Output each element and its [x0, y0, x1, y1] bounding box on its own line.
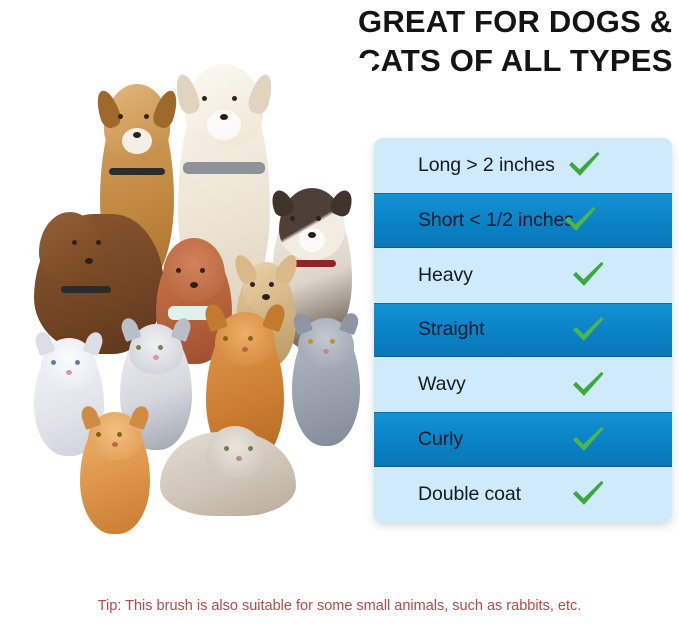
cream-longhair-cat-eye-left [224, 446, 229, 451]
white-labrador-dog-nose [220, 114, 228, 120]
cream-longhair-cat-eye-right [248, 446, 253, 451]
ginger-maine-coon-cat-eye-right [248, 336, 253, 341]
coat-type-row-double-coat[interactable]: Double coat [374, 467, 672, 522]
white-fluffy-cat-eye-right [75, 360, 80, 365]
coat-type-label: Short < 1/2 inches [418, 209, 574, 232]
grey-tabby-cat-nose [153, 355, 159, 360]
white-fluffy-cat-eye-left [51, 360, 56, 365]
grey-tabby-cat-eye-left [136, 345, 141, 350]
brown-retriever-dog-eye-right [96, 240, 101, 245]
coat-type-label: Wavy [418, 373, 466, 396]
orange-tabby-cat-eye-left [96, 432, 101, 437]
brown-retriever-dog-eye-left [72, 240, 77, 245]
green-check-icon [570, 314, 606, 344]
apricot-poodle-dog-eye-left [176, 268, 181, 273]
page-title: GREAT FOR DOGS & CATS OF ALL TYPES [358, 2, 676, 80]
green-check-icon [570, 260, 606, 290]
coat-type-label: Double coat [418, 483, 521, 506]
grey-tabby-cat-eye-right [158, 345, 163, 350]
border-collie-dog-eye-right [316, 216, 321, 221]
border-collie-dog-eye-left [290, 216, 295, 221]
green-check-icon [562, 205, 598, 235]
cream-longhair-cat [160, 432, 296, 516]
british-blue-cat-eye-right [330, 339, 335, 344]
chihuahua-dog-eye-right [269, 282, 274, 287]
orange-tabby-cat-eye-right [117, 432, 122, 437]
coat-type-label: Heavy [418, 264, 473, 287]
brown-retriever-dog-collar [61, 286, 111, 293]
green-check-icon [570, 479, 606, 509]
coat-type-row-heavy[interactable]: Heavy [374, 248, 672, 303]
white-labrador-dog-eye-left [202, 96, 207, 101]
pets-photo [0, 58, 372, 548]
coat-type-row-long[interactable]: Long > 2 inches [374, 138, 672, 193]
apricot-poodle-dog-eye-right [200, 268, 205, 273]
ginger-maine-coon-cat-eye-left [223, 336, 228, 341]
ginger-maine-coon-cat-nose [242, 347, 248, 352]
coat-type-label: Straight [418, 318, 484, 341]
orange-tabby-cat [80, 414, 150, 534]
coat-type-row-wavy[interactable]: Wavy [374, 357, 672, 412]
brown-retriever-dog-nose [85, 258, 93, 264]
tan-shepherd-dog-collar [109, 168, 165, 175]
green-check-icon [570, 369, 606, 399]
coat-type-row-short[interactable]: Short < 1/2 inches [374, 193, 672, 248]
chihuahua-dog-eye-left [250, 282, 255, 287]
coat-type-row-straight[interactable]: Straight [374, 303, 672, 358]
brown-retriever-dog-head [39, 212, 101, 282]
tip-text: Tip: This brush is also suitable for som… [0, 598, 679, 614]
chihuahua-dog-nose [262, 294, 270, 300]
tan-shepherd-dog-eye-left [118, 114, 123, 119]
green-check-icon [570, 424, 606, 454]
orange-tabby-cat-nose [112, 442, 118, 447]
page-title-line-2: CATS OF ALL TYPES [358, 41, 676, 80]
apricot-poodle-dog-nose [190, 282, 198, 288]
white-labrador-dog-harness [183, 162, 265, 174]
coat-type-label: Curly [418, 428, 463, 451]
cream-longhair-cat-head [206, 426, 264, 478]
white-fluffy-cat-nose [66, 370, 72, 375]
british-blue-cat-eye-left [308, 339, 313, 344]
tan-shepherd-dog-nose [133, 132, 141, 138]
british-blue-cat-nose [323, 349, 329, 354]
tan-shepherd-dog-eye-right [144, 114, 149, 119]
pets-photo-stage [0, 58, 372, 548]
border-collie-dog-nose [308, 232, 316, 238]
coat-type-panel: Long > 2 inches Short < 1/2 inches Heavy… [374, 138, 672, 522]
page-title-line-1: GREAT FOR DOGS & [358, 2, 676, 41]
green-check-icon [566, 150, 602, 180]
coat-type-label: Long > 2 inches [418, 154, 555, 177]
british-blue-cat [292, 320, 360, 446]
coat-type-row-curly[interactable]: Curly [374, 412, 672, 467]
white-labrador-dog-eye-right [232, 96, 237, 101]
cream-longhair-cat-nose [236, 456, 242, 461]
